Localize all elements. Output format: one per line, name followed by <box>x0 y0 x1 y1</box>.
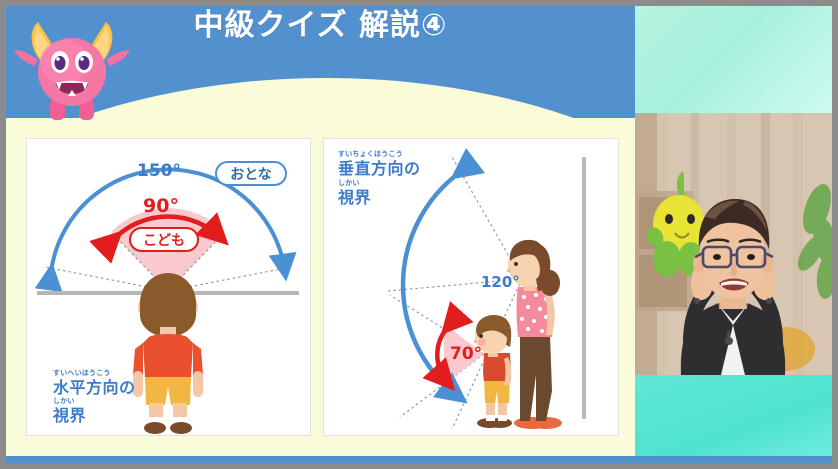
title-furigana-1: ちゅうきゅう <box>198 6 252 8</box>
horizontal-fov-label: すいへいほうこう 水平方向の しかい 視界 <box>53 370 136 427</box>
vertical-label-furigana-2: しかい <box>338 180 421 187</box>
adult-pill-label: おとな <box>215 161 287 186</box>
title-furigana-2: かいせつ <box>352 6 388 8</box>
bottom-blue-strip <box>6 456 832 463</box>
vertical-label-furigana-1: すいちょくほうこう <box>338 151 421 158</box>
video-column <box>635 6 832 463</box>
panel-vertical-field-of-view: 120° 70° すいちょくほうこう 垂直方向の しかい 視界 <box>323 138 619 436</box>
top-gradient-band <box>635 6 832 113</box>
horizontal-label-line1: 水平方向の <box>53 377 136 399</box>
panel-horizontal-field-of-view: 150° 90° おとな こども すいへいほうこう 水平方向の しかい 視界 <box>26 138 311 436</box>
monster-mascot-icon <box>12 10 132 120</box>
child-vertical-angle: 70° <box>450 344 482 364</box>
presenter-video-feed[interactable] <box>635 113 832 375</box>
slide-area: ちゅうきゅう かいせつ 中級クイズ 解説④ <box>6 6 635 463</box>
bottom-gradient-band <box>635 375 832 463</box>
horizontal-label-furigana-1: すいへいほうこう <box>53 370 136 377</box>
vertical-fov-label: すいちょくほうこう 垂直方向の しかい 視界 <box>338 151 421 208</box>
vertical-label-line2: 視界 <box>338 187 421 209</box>
horizontal-label-furigana-2: しかい <box>53 398 136 405</box>
adult-vertical-angle: 120° <box>481 273 520 291</box>
title-ruby-group: ちゅうきゅう かいせつ 中級クイズ 解説④ <box>194 10 448 42</box>
presenter-scene <box>635 113 832 375</box>
horizontal-label-line2: 視界 <box>53 405 136 427</box>
child-horizontal-angle: 90° <box>143 195 179 217</box>
vertical-label-line1: 垂直方向の <box>338 158 421 180</box>
title-text: 中級クイズ 解説④ <box>194 8 448 43</box>
screen: ちゅうきゅう かいせつ 中級クイズ 解説④ <box>0 0 838 469</box>
adult-horizontal-angle: 150° <box>137 161 181 181</box>
child-pill-label: こども <box>129 227 199 252</box>
